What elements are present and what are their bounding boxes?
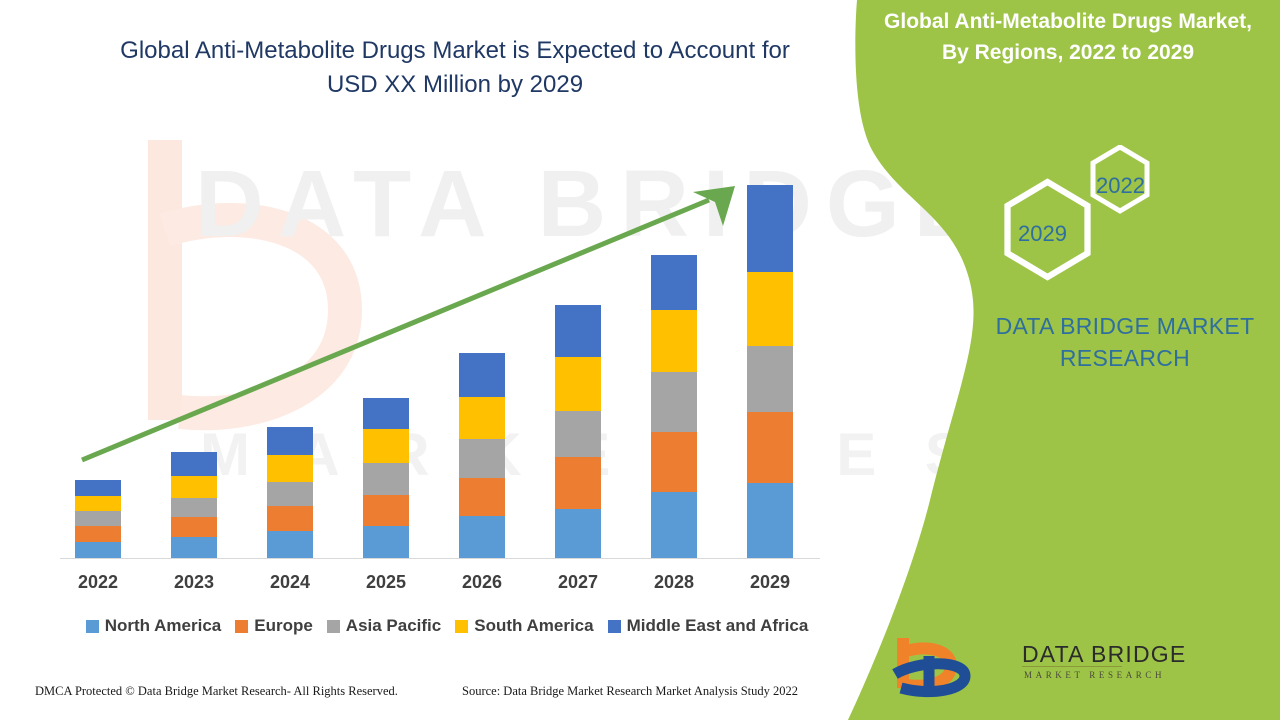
legend-item-north-america[interactable]: North America <box>86 616 222 636</box>
bar-segment-europe <box>171 517 217 537</box>
bar-segment-asia-pacific <box>363 463 409 495</box>
bar-segment-middle-east-and-africa <box>363 398 409 429</box>
bar-segment-europe <box>267 506 313 531</box>
brand-name-line2: RESEARCH <box>980 342 1270 374</box>
legend-swatch-icon <box>608 620 621 633</box>
x-axis-label-2028: 2028 <box>634 572 714 593</box>
x-axis-label-2029: 2029 <box>730 572 810 593</box>
legend-swatch-icon <box>327 620 340 633</box>
brand-name: DATA BRIDGE MARKET RESEARCH <box>980 310 1270 374</box>
x-axis-label-2024: 2024 <box>250 572 330 593</box>
x-axis-label-2026: 2026 <box>442 572 522 593</box>
bar-segment-south-america <box>267 455 313 482</box>
panel-heading-line1: Global Anti-Metabolite Drugs Market, <box>858 6 1278 37</box>
bar-segment-europe <box>747 412 793 483</box>
bar-2025 <box>363 398 409 558</box>
x-axis-label-2022: 2022 <box>58 572 138 593</box>
bar-segment-europe <box>75 526 121 542</box>
bar-segment-middle-east-and-africa <box>75 480 121 496</box>
hexagon-2029-label: 2029 <box>1018 221 1067 247</box>
bar-2023 <box>171 452 217 558</box>
bar-2026 <box>459 353 505 558</box>
legend-swatch-icon <box>455 620 468 633</box>
legend-swatch-icon <box>235 620 248 633</box>
bar-segment-south-america <box>171 476 217 498</box>
brand-name-line1: DATA BRIDGE MARKET <box>980 310 1270 342</box>
bar-2024 <box>267 427 313 558</box>
bar-segment-middle-east-and-africa <box>459 353 505 397</box>
x-axis-label-2023: 2023 <box>154 572 234 593</box>
bar-segment-south-america <box>75 496 121 511</box>
logo-text-sub: MARKET RESEARCH <box>1024 670 1165 680</box>
bar-segment-asia-pacific <box>75 511 121 526</box>
logo-divider <box>1022 666 1122 667</box>
bar-segment-north-america <box>171 537 217 558</box>
x-axis-label-2027: 2027 <box>538 572 618 593</box>
bar-segment-asia-pacific <box>651 372 697 432</box>
bar-2029 <box>747 185 793 558</box>
legend-label: South America <box>474 616 593 636</box>
bar-segment-north-america <box>555 509 601 558</box>
bar-2028 <box>651 255 697 558</box>
legend-swatch-icon <box>86 620 99 633</box>
growth-trend-arrow <box>0 0 860 600</box>
bar-segment-asia-pacific <box>267 482 313 506</box>
legend-item-asia-pacific[interactable]: Asia Pacific <box>327 616 441 636</box>
legend-label: Asia Pacific <box>346 616 441 636</box>
footer-source: Source: Data Bridge Market Research Mark… <box>462 684 798 699</box>
bar-segment-middle-east-and-africa <box>747 185 793 272</box>
bar-segment-middle-east-and-africa <box>171 452 217 476</box>
bar-segment-north-america <box>747 483 793 558</box>
bar-segment-europe <box>651 432 697 492</box>
logo-text-main: DATA BRIDGE <box>1022 641 1186 668</box>
hexagon-2022-label: 2022 <box>1096 173 1145 199</box>
bar-segment-north-america <box>651 492 697 558</box>
legend-item-south-america[interactable]: South America <box>455 616 593 636</box>
bar-segment-south-america <box>651 310 697 372</box>
bar-segment-middle-east-and-africa <box>651 255 697 310</box>
bar-segment-north-america <box>75 542 121 558</box>
bar-segment-south-america <box>363 429 409 463</box>
bar-segment-asia-pacific <box>171 498 217 517</box>
bar-segment-north-america <box>363 526 409 558</box>
bar-segment-south-america <box>555 357 601 411</box>
bar-segment-europe <box>555 457 601 509</box>
legend-label: North America <box>105 616 222 636</box>
infographic-root: DATA BRIDGE M A R K E T R E S E A R C H … <box>0 0 1280 720</box>
stacked-bar-chart: 20222023202420252026202720282029 <box>0 0 860 600</box>
panel-heading: Global Anti-Metabolite Drugs Market, By … <box>858 6 1278 68</box>
x-axis-line <box>60 558 820 559</box>
x-axis-labels: 20222023202420252026202720282029 <box>0 572 860 602</box>
bar-segment-north-america <box>267 531 313 558</box>
chart-legend: North AmericaEuropeAsia PacificSouth Ame… <box>62 616 832 636</box>
bar-2022 <box>75 480 121 558</box>
bar-segment-asia-pacific <box>555 411 601 457</box>
bar-segment-north-america <box>459 516 505 558</box>
panel-heading-line2: By Regions, 2022 to 2029 <box>858 37 1278 68</box>
legend-item-europe[interactable]: Europe <box>235 616 313 636</box>
legend-item-middle-east-and-africa[interactable]: Middle East and Africa <box>608 616 809 636</box>
bar-2027 <box>555 305 601 558</box>
x-axis-label-2025: 2025 <box>346 572 426 593</box>
bar-segment-europe <box>459 478 505 516</box>
footer-copyright: DMCA Protected © Data Bridge Market Rese… <box>35 684 398 699</box>
bar-segment-asia-pacific <box>459 439 505 478</box>
legend-label: Europe <box>254 616 313 636</box>
bar-segment-europe <box>363 495 409 526</box>
legend-label: Middle East and Africa <box>627 616 809 636</box>
bar-segment-south-america <box>459 397 505 439</box>
hexagon-pair-icon <box>975 145 1185 295</box>
bar-segment-middle-east-and-africa <box>555 305 601 357</box>
bar-segment-middle-east-and-africa <box>267 427 313 455</box>
bar-segment-south-america <box>747 272 793 346</box>
bar-segment-asia-pacific <box>747 346 793 412</box>
